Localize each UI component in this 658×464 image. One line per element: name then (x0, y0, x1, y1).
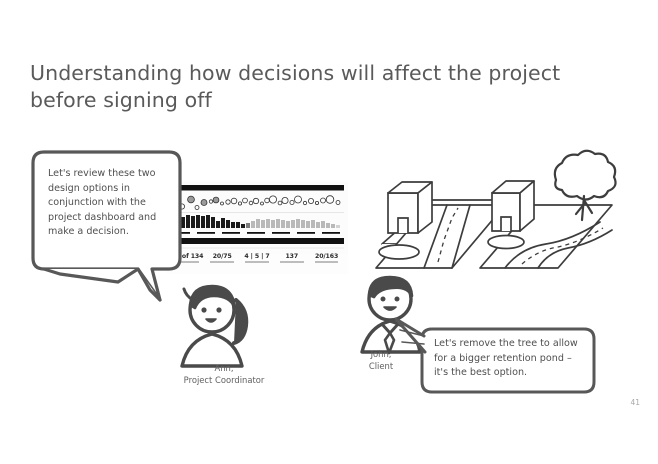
kpi-label (210, 261, 234, 263)
site-option-b (480, 151, 616, 268)
kpi-value: 4 | 5 | 7 (240, 253, 275, 260)
dashboard-kpi: 20/75 (205, 253, 240, 263)
site-option-a (376, 182, 505, 270)
kpi-label (315, 261, 339, 263)
kpi-value: 18 of 134 (170, 253, 205, 260)
slide-number: 41 (630, 398, 640, 407)
dashboard-kpi: 18 of 134 (170, 253, 205, 263)
dashboard-charts (166, 182, 348, 254)
dashboard-kpi-row: 18 of 134 20/75 4 | 5 | 7 137 20/163 (166, 253, 348, 263)
dashboard-kpi: 20/163 (309, 253, 344, 263)
dashboard-kpi: 137 (274, 253, 309, 263)
character-john-caption: John, Client (351, 348, 411, 372)
page-title: Understanding how decisions will affect … (30, 60, 610, 114)
character-john (362, 277, 420, 353)
project-dashboard: 18 of 134 20/75 4 | 5 | 7 137 20/163 (166, 182, 348, 274)
kpi-value: 20/163 (309, 253, 344, 260)
speech-bubble-left-text: Let's review these two design options in… (48, 167, 166, 240)
kpi-value: 137 (274, 253, 309, 260)
kpi-label (176, 261, 200, 263)
slide-canvas: Understanding how decisions will affect … (0, 0, 658, 464)
dashboard-kpi: 4 | 5 | 7 (240, 253, 275, 263)
kpi-label (245, 261, 269, 263)
speech-bubble-right-text: Let's remove the tree to allow for a big… (434, 337, 586, 381)
character-ann-caption: Ann, Project Coordinator (163, 362, 285, 386)
character-ann (182, 286, 246, 366)
kpi-value: 20/75 (205, 253, 240, 260)
tree-icon (555, 151, 616, 220)
kpi-label (280, 261, 304, 263)
